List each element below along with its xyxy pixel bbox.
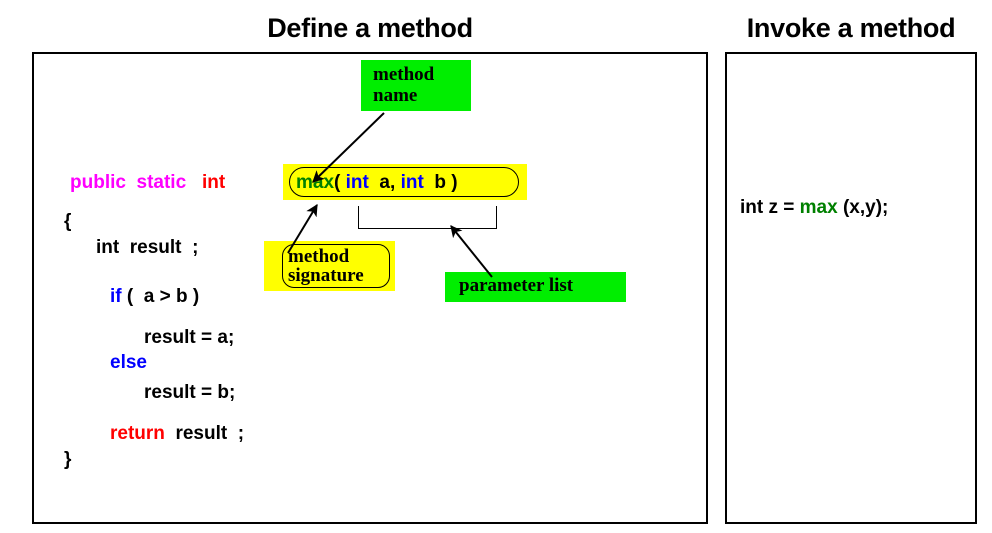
code-line-return: return result ; xyxy=(110,424,244,443)
code-line-brace-open: { xyxy=(64,212,71,231)
code-line-brace-close: } xyxy=(64,450,71,469)
code-line-assign-b: result = b; xyxy=(144,383,235,402)
invoke-args: (x,y); xyxy=(838,197,889,218)
callout-method-signature-label: method signature xyxy=(288,247,364,285)
keyword-static: static xyxy=(137,172,187,193)
spacer xyxy=(165,423,176,444)
invoke-method-name: max xyxy=(800,197,838,218)
keyword-public: public xyxy=(70,172,126,193)
return-value: result ; xyxy=(175,423,244,444)
slide-canvas: Define a method Invoke a method public s… xyxy=(0,0,992,533)
code-line-if: if ( a > b ) xyxy=(110,287,199,306)
page-title-invoke: Invoke a method xyxy=(725,13,977,44)
keyword-return: return xyxy=(110,423,165,444)
callout-parameter-list-label: parameter list xyxy=(459,275,573,297)
code-line-else: else xyxy=(110,353,147,372)
param1-type-token: int xyxy=(346,172,369,193)
invoke-method-panel xyxy=(725,52,977,524)
page-title-define: Define a method xyxy=(32,13,708,44)
callout-parameter-list: parameter list xyxy=(445,272,626,302)
code-line-invoke: int z = max (x,y); xyxy=(740,198,888,217)
keyword-return-type: int xyxy=(202,172,225,193)
keyword-if: if xyxy=(110,286,122,307)
callout-method-name: method name xyxy=(361,60,471,111)
code-line-modifiers: public static int xyxy=(70,173,225,192)
close-paren-token: ) xyxy=(451,172,457,193)
callout-method-name-label: method name xyxy=(373,64,434,106)
parameter-list-bracket xyxy=(358,206,497,229)
code-method-signature: max( int a, int b ) xyxy=(296,173,458,192)
param2-name-token: b xyxy=(434,172,446,193)
invoke-prefix: int z = xyxy=(740,197,800,218)
method-name-token: max xyxy=(296,172,334,193)
code-line-declaration: int result ; xyxy=(96,238,198,257)
param1-name-token: a xyxy=(379,172,390,193)
spacer xyxy=(424,172,435,193)
spacer xyxy=(186,172,202,193)
param2-type-token: int xyxy=(401,172,424,193)
callout-method-signature: method signature xyxy=(264,241,395,291)
code-line-assign-a: result = a; xyxy=(144,328,234,347)
spacer xyxy=(126,172,137,193)
spacer xyxy=(369,172,380,193)
if-condition: ( a > b ) xyxy=(127,286,199,307)
